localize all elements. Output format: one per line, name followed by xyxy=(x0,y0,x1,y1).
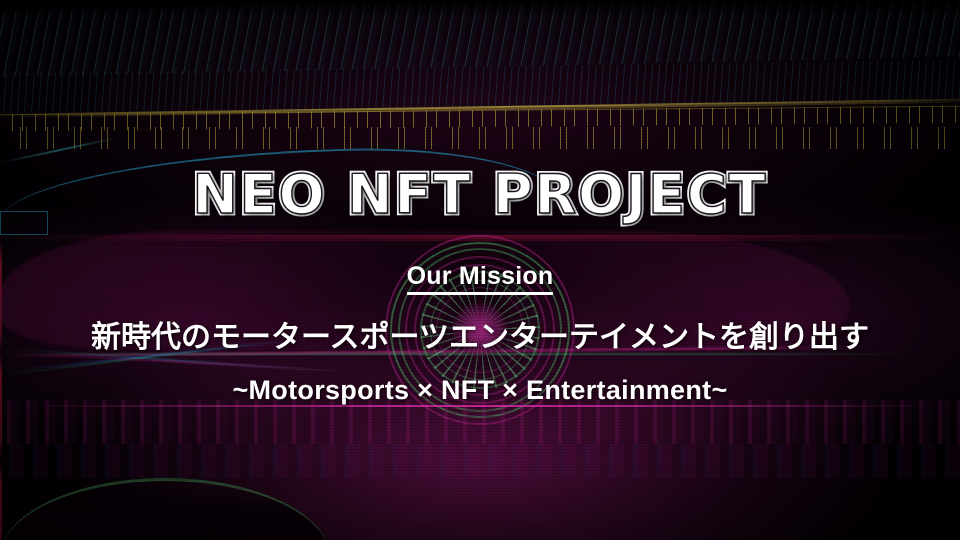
slide-tagline: ~Motorsports × NFT × Entertainment~ xyxy=(232,375,727,406)
mission-statement-japanese: 新時代のモータースポーツエンターテイメントを創り出す xyxy=(91,312,869,356)
section-heading: Our Mission xyxy=(407,262,554,295)
slide-title-text: NEO NFT PROJECT xyxy=(192,163,767,226)
slide-title: NEO NFT PROJECT NEO NFT PROJECT xyxy=(192,168,767,222)
slide-content: NEO NFT PROJECT NEO NFT PROJECT Our Miss… xyxy=(0,0,960,540)
presentation-slide: 福壽 xyxy=(0,0,960,540)
